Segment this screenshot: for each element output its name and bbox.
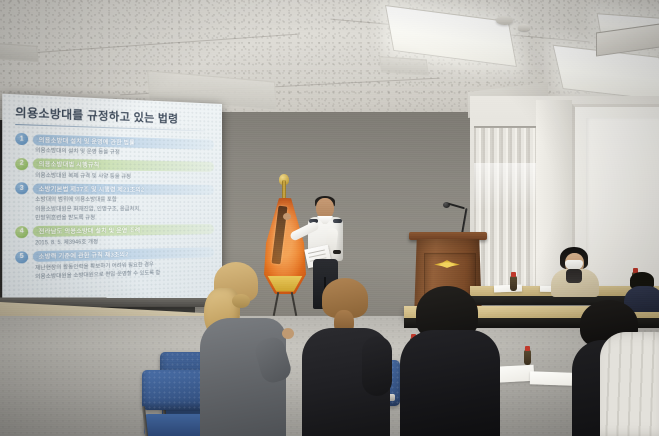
attendee-blonde-grey-jacket xyxy=(196,262,288,436)
attendee-torso xyxy=(400,330,500,436)
slide-item-subtext: 의용소방대원 복제 규격 및 사양 등을 규정 xyxy=(35,172,214,181)
presentation-slide: 의용소방대를 규정하고 있는 법령 1 의용소방대 설치 및 운영에 관한 법률… xyxy=(2,94,222,311)
attendee-quilted-white-jacket xyxy=(600,332,659,436)
slide-item: 4 전라남도 의용소방대 설치 및 운영 조례 2015. 8. 5. 제394… xyxy=(15,224,214,248)
presenter-hand xyxy=(283,213,291,220)
attendee-masked-beige-cardigan xyxy=(549,247,601,293)
slide-item-subtext: 민방위훈련을 받도록 규정 xyxy=(35,214,214,222)
slide-item-number: 1 xyxy=(15,133,28,145)
attendee-ponytail-black-coat xyxy=(300,278,392,436)
water-bottle xyxy=(510,276,517,291)
slide-item: 3 소방기본법 제37조 및 시행령 제21조의2 소방대의 범위에 의용소방대… xyxy=(15,182,214,222)
presenter-wristwatch xyxy=(333,250,341,254)
slide-item-subtext: 의용소방대원은 화재진압, 인명구조, 응급처치, xyxy=(35,206,214,214)
slide-item-number: 4 xyxy=(15,226,28,238)
ceiling-light-panel-left xyxy=(0,42,39,62)
water-bottle xyxy=(524,350,531,365)
smoke-detector-icon xyxy=(496,16,513,25)
slide-item-subtext: 소방대의 범위에 의용소방대를 포함 xyxy=(35,197,214,204)
slide-item-list: 1 의용소방대 설치 및 운영에 관한 법률 의용소방대의 설치 및 운영 등을… xyxy=(15,133,214,282)
sprinkler-head-icon xyxy=(518,24,530,31)
slide-item: 5 소방력 기준에 관한 규칙 제3조의2 재난현장의 활동인력을 확보하기 어… xyxy=(15,247,214,282)
paper-sheet xyxy=(530,371,572,385)
seminar-room-photo: 의용소방대를 규정하고 있는 법령 1 의용소방대 설치 및 운영에 관한 법률… xyxy=(0,0,659,436)
presenter-head xyxy=(316,198,334,219)
projection-screen: 의용소방대를 규정하고 있는 법령 1 의용소방대 설치 및 운영에 관한 법률… xyxy=(2,94,222,311)
attendee-quilted-jacket xyxy=(600,332,659,436)
attendee-hand xyxy=(282,328,294,339)
slide-item-heading: 소방기본법 제37조 및 시행령 제21조의2 xyxy=(33,183,214,195)
slide-item-heading: 전라남도 의용소방대 설치 및 운영 조례 xyxy=(33,225,214,238)
slide-item: 1 의용소방대 설치 및 운영에 관한 법률 의용소방대의 설치 및 운영 등을… xyxy=(15,133,214,159)
slide-item-number: 5 xyxy=(15,251,28,263)
slide-item-heading: 의용소방대법 시행규칙 xyxy=(33,158,214,172)
presenter-epaulet-right xyxy=(333,219,342,223)
slide-item-subtext: 2015. 8. 5. 제3946호 개정 xyxy=(35,237,214,247)
slide-item: 2 의용소방대법 시행규칙 의용소방대원 복제 규격 및 사양 등을 규정 xyxy=(15,158,214,182)
lectern-top xyxy=(409,232,487,240)
slide-item-number: 2 xyxy=(15,158,28,170)
slide-item-number: 3 xyxy=(15,182,28,194)
attendee-dark-hair-black-coat xyxy=(400,286,504,436)
attendee-shoulder xyxy=(362,336,392,396)
attendee-ponytail xyxy=(232,294,250,308)
projection-screen-surface: 의용소방대를 규정하고 있는 법령 1 의용소방대 설치 및 운영에 관한 법률… xyxy=(2,94,222,311)
slide-item-heading: 의용소방대 설치 및 운영에 관한 법률 xyxy=(33,134,214,149)
attendee-scarf xyxy=(566,269,582,283)
